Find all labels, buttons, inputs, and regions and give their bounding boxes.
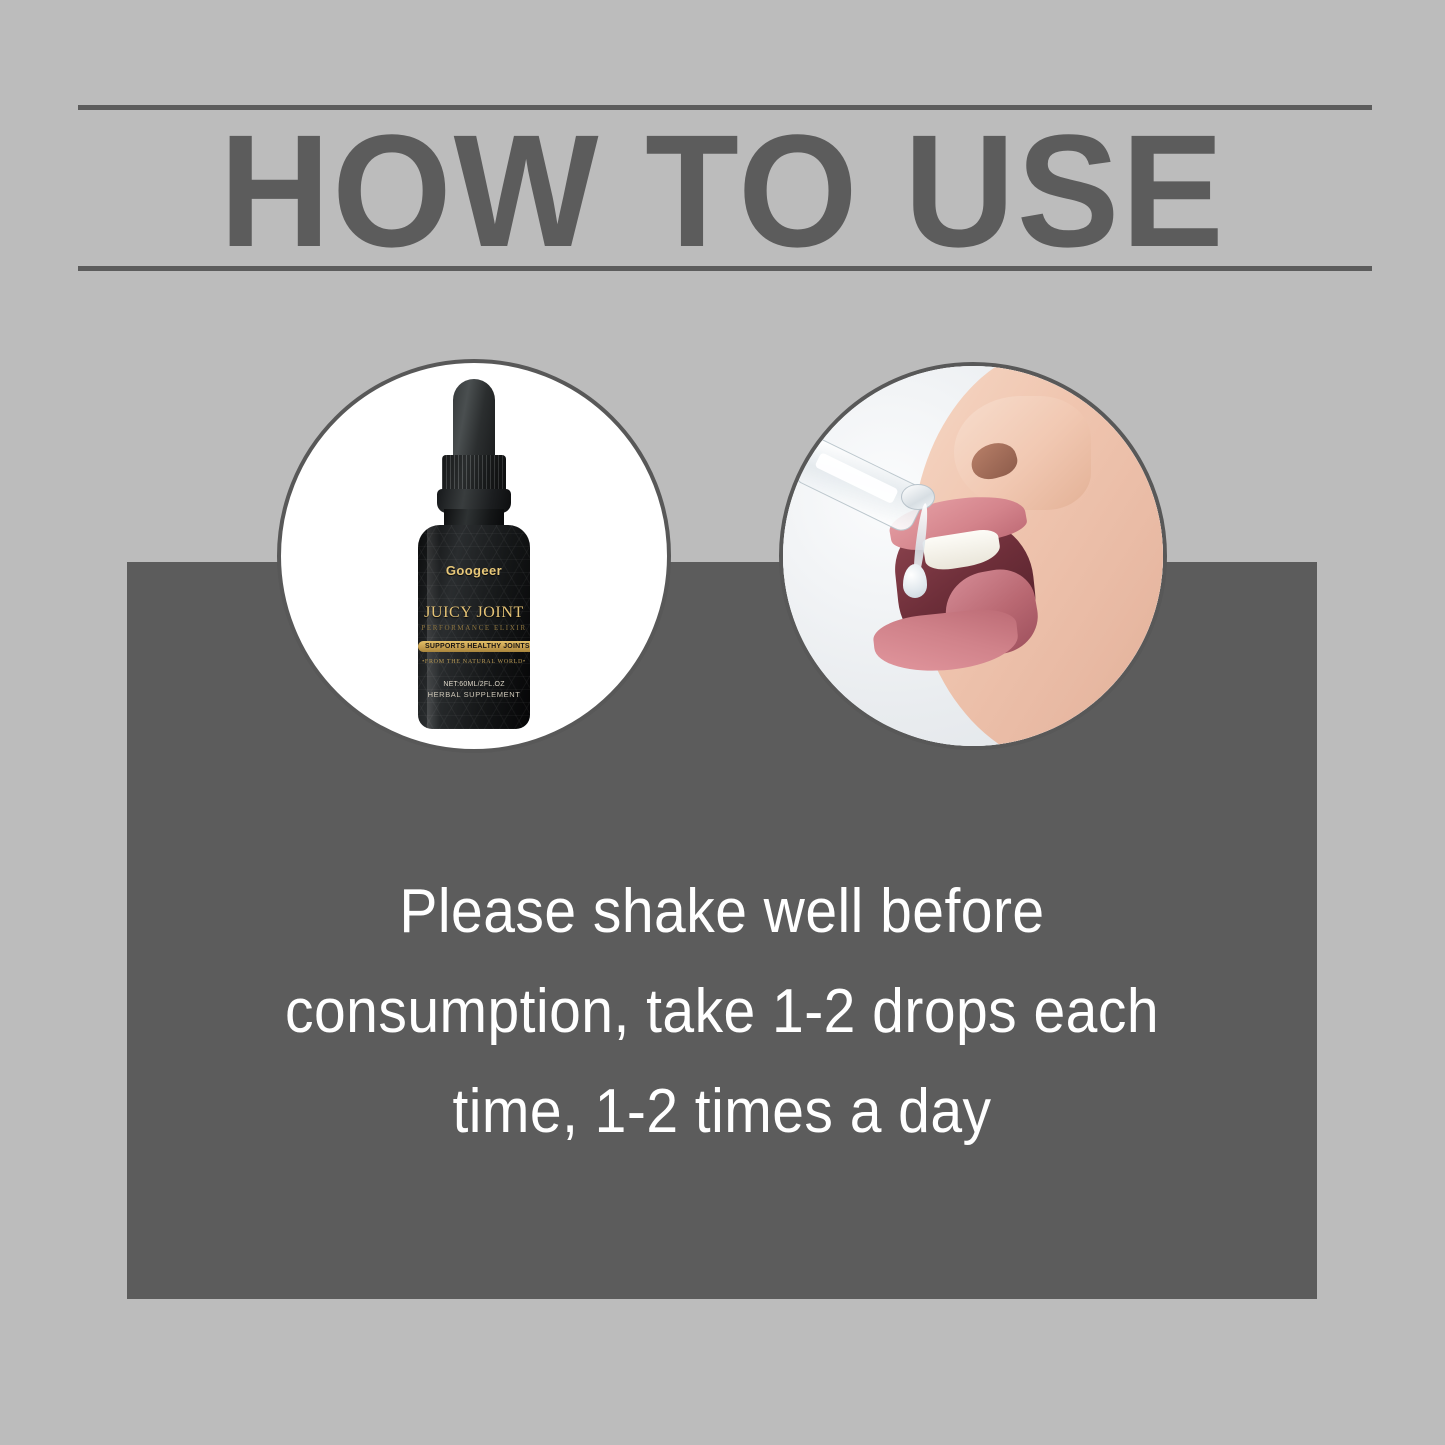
instruction-text: Please shake well before consumption, ta… <box>175 862 1270 1162</box>
header-rule-bottom <box>78 266 1372 271</box>
dropper-bulb <box>453 379 495 465</box>
dropper-tip <box>901 484 935 511</box>
bottle-supplement-line: HERBAL SUPPLEMENT <box>418 690 530 699</box>
instruction-line-3: time, 1-2 times a day <box>175 1062 1270 1162</box>
dropper-cap-collar <box>442 455 506 493</box>
usage-photo-circle <box>779 362 1167 750</box>
bottle-net-contents: NET:60ML/2FL.OZ <box>418 681 530 688</box>
bottle-claim-badge: SUPPORTS HEALTHY JOINTS* <box>418 641 530 652</box>
how-to-use-infographic: HOW TO USE Googeer JUICY JOINT PERFORMAN… <box>0 0 1445 1445</box>
dropper-into-mouth-illustration <box>783 366 1163 746</box>
page-title: HOW TO USE <box>29 112 1416 270</box>
bottle-label: Googeer JUICY JOINT PERFORMANCE ELIXIR S… <box>418 563 530 699</box>
bottle-body: Googeer JUICY JOINT PERFORMANCE ELIXIR S… <box>418 525 530 729</box>
bottle-brand-name: Googeer <box>418 563 530 578</box>
bottle-natural-world-line: •FROM THE NATURAL WORLD• <box>418 659 530 665</box>
product-bottle-illustration: Googeer JUICY JOINT PERFORMANCE ELIXIR S… <box>409 379 539 729</box>
instruction-line-1: Please shake well before <box>175 862 1270 962</box>
bottle-product-name: JUICY JOINT <box>418 604 530 622</box>
product-photo-circle: Googeer JUICY JOINT PERFORMANCE ELIXIR S… <box>277 359 671 753</box>
instruction-line-2: consumption, take 1-2 drops each <box>175 962 1270 1062</box>
bottle-product-subtitle: PERFORMANCE ELIXIR <box>418 624 530 632</box>
